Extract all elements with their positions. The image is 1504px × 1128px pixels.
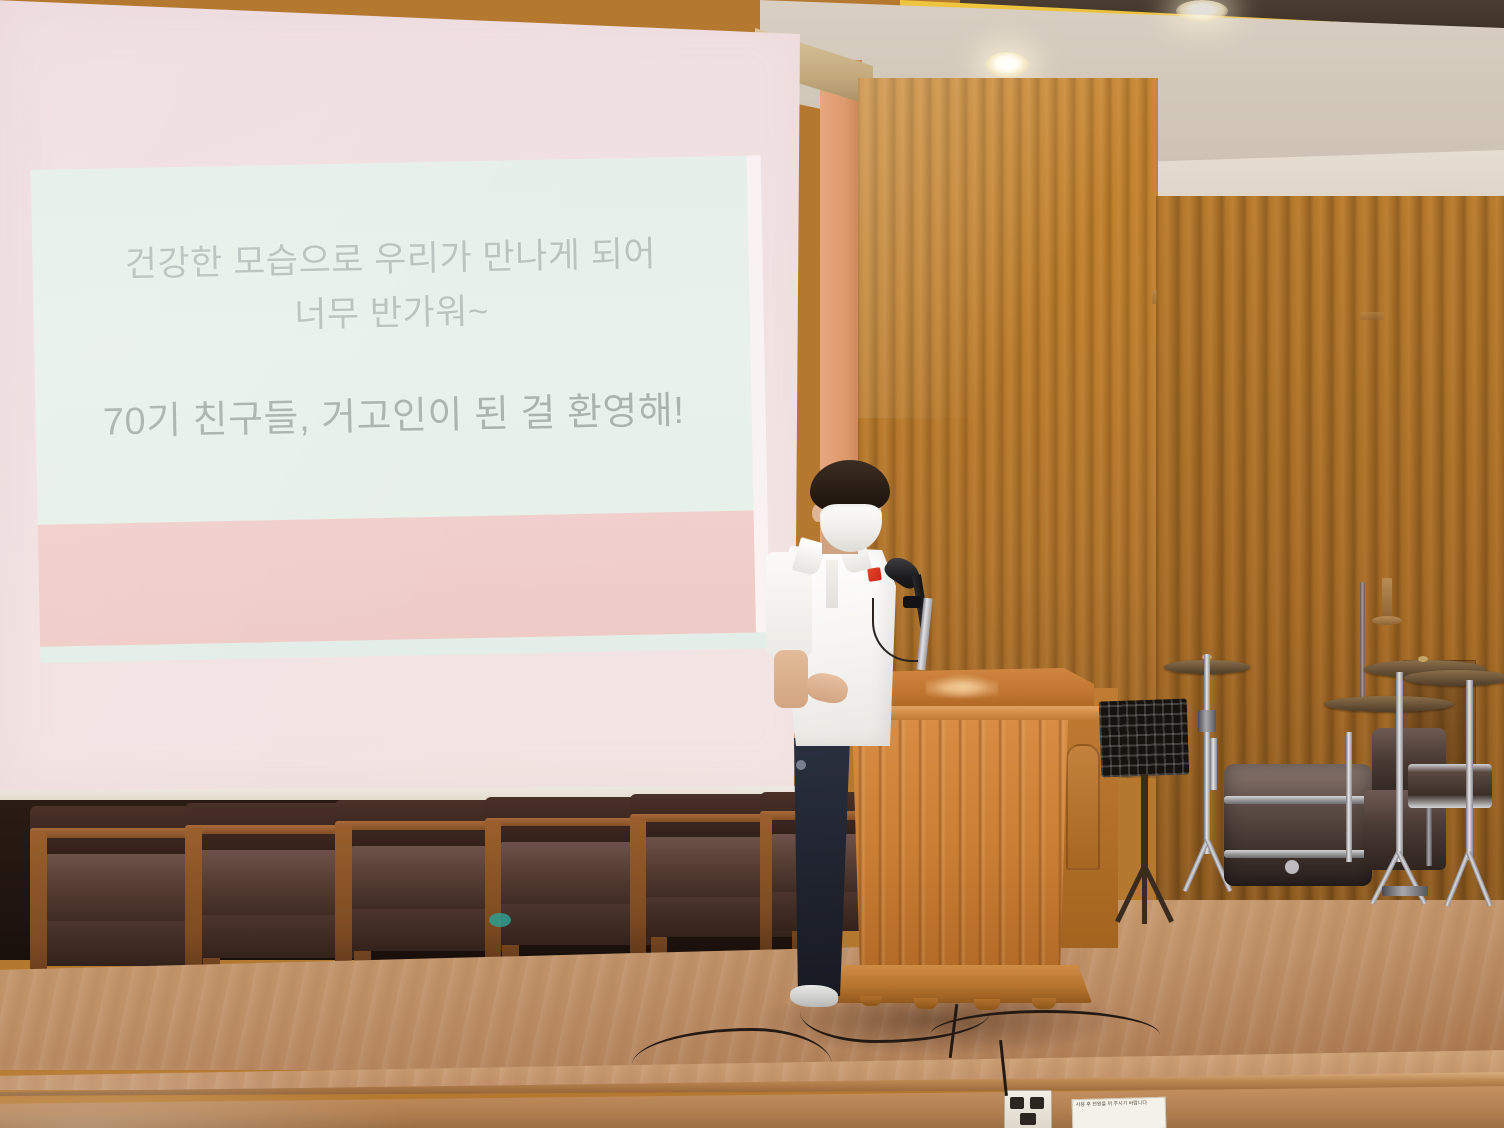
tom-mount-rod <box>1346 732 1352 862</box>
cymbal-stand-main <box>1396 672 1403 862</box>
floor-corner-shadow-left <box>0 1060 420 1128</box>
podium-foot-3 <box>974 999 1000 1010</box>
armchair-arm-left <box>335 825 352 976</box>
pants-logo <box>796 760 806 770</box>
speaker-person <box>760 460 960 1020</box>
speaker-shirt-logo <box>867 567 882 582</box>
downlight-1 <box>985 52 1029 78</box>
wall-power-outlet[interactable] <box>1004 1090 1052 1128</box>
slide-pink-band <box>38 511 756 647</box>
wall-fitting-1 <box>1152 290 1157 304</box>
speaker-pants <box>788 738 850 996</box>
wall-fitting-2 <box>1360 312 1384 320</box>
music-stand-pole <box>1141 774 1148 872</box>
snare-stand-rod <box>1426 808 1432 866</box>
cymbal-stand-leg-3 <box>1444 851 1470 907</box>
auditorium-stage-photo: 건강한 모습으로 우리가 만나게 되어 너무 반가워~ 70기 친구들, 거고인… <box>0 0 1504 1128</box>
cymbal-stand-right <box>1466 680 1473 860</box>
podium-foot-4 <box>1032 998 1056 1009</box>
armchair-seat <box>200 850 356 922</box>
bass-pedal <box>1382 886 1428 896</box>
hi-hat-clutch <box>1198 710 1216 732</box>
speaker-shirt-placket <box>826 560 838 608</box>
cymbal-boom-arm <box>1360 582 1365 702</box>
speaker-forearm-left <box>774 650 808 708</box>
armchair-seat <box>45 854 205 928</box>
outlet-socket-left <box>1010 1097 1024 1109</box>
wall-notice-sticker: 사용 후 전원을 꺼 주시기 바랍니다 <box>1072 1097 1167 1128</box>
armchair-arm-left <box>30 832 47 992</box>
wall-hook-bracket <box>1372 616 1402 625</box>
projection-screen: 건강한 모습으로 우리가 만나게 되어 너무 반가워~ 70기 친구들, 거고인… <box>0 0 822 800</box>
hi-hat-pull-rod <box>1210 738 1217 790</box>
outlet-socket-bottom <box>1020 1113 1036 1125</box>
crash-cymbal-lower <box>1324 696 1454 712</box>
teal-object-under-chair <box>489 913 511 927</box>
outlet-socket-right <box>1030 1097 1044 1109</box>
cymbal-stand-leg-4 <box>1466 851 1492 907</box>
music-stand-leg-3 <box>1142 866 1147 924</box>
bass-drum-badge <box>1285 860 1299 874</box>
armchair-arm-left <box>485 821 501 969</box>
armchair-base <box>45 921 205 966</box>
drum-kit <box>1160 560 1504 932</box>
crash-cymbal-upper <box>1404 670 1504 686</box>
armchair-arm-left <box>185 828 202 983</box>
armchair-base <box>200 915 356 958</box>
snare-drum <box>1408 764 1492 808</box>
armchair-base <box>350 909 505 951</box>
hi-hat-leg-1 <box>1182 839 1209 892</box>
ride-cymbal-boss <box>1418 656 1428 662</box>
slide-graphic: 건강한 모습으로 우리가 만나게 되어 너무 반가워~ 70기 친구들, 거고인… <box>30 125 770 660</box>
armchair-arm-left <box>630 817 646 960</box>
downlight-3 <box>1176 0 1228 22</box>
wall-hook-drumstick <box>1382 578 1392 618</box>
podium-side-panel-2 <box>1066 744 1100 870</box>
armchair-seat <box>350 846 505 916</box>
speaker-shoe <box>790 985 838 1007</box>
